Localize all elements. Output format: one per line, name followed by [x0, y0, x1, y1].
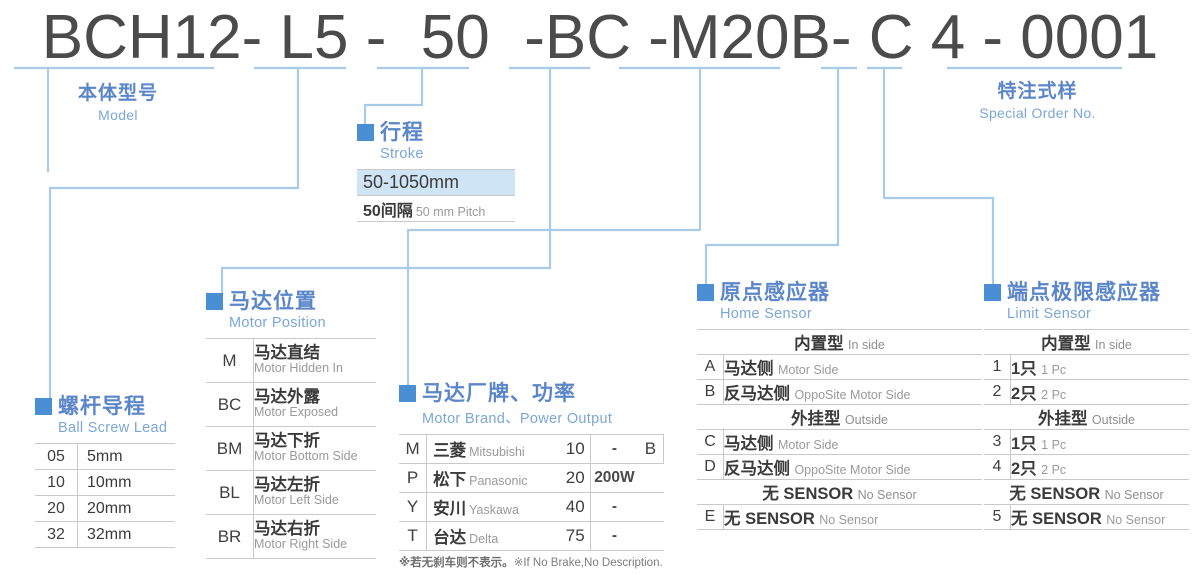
motorpos-desc-en: Motor Left Side: [254, 494, 376, 508]
limit-sensor-desc: 无 SENSOR No Sensor: [1011, 505, 1190, 530]
limit-sensor-band: 内置型 In side: [984, 330, 1189, 355]
home-sensor-desc-cn: 反马达侧: [724, 385, 790, 403]
home-sensor-desc-en: No Sensor: [819, 513, 878, 527]
bullet-square-icon: [399, 385, 416, 402]
power-value: -: [590, 435, 638, 464]
table-row: 5 无 SENSOR No Sensor: [984, 505, 1189, 530]
brand-title-cn: 马达厂牌、功率: [422, 383, 576, 404]
brand-title-en: Motor Brand、Power Output: [422, 407, 664, 428]
brand-name-en: Delta: [469, 532, 498, 546]
table-row: BC 马达外露 Motor Exposed: [206, 383, 376, 427]
motorpos-desc: 马达外露 Motor Exposed: [254, 383, 377, 427]
home-sensor-desc-en: OppoSite Motor Side: [794, 463, 910, 477]
stroke-title-en: Stroke: [380, 146, 515, 162]
section-ball-screw-lead: 螺杆导程 Ball Screw Lead 05 5mm 10 10mm 20 2…: [35, 396, 175, 548]
motorpos-desc-cn: 马达下折: [254, 433, 376, 450]
table-row: 内置型 In side: [697, 330, 982, 355]
power-value: -: [590, 522, 638, 551]
stroke-range-cell: 50-1050mm: [357, 170, 515, 196]
table-row: 3 1只 1 Pc: [984, 430, 1189, 455]
table-row: 05 5mm: [35, 444, 175, 470]
brand-name-en: Yaskawa: [469, 503, 519, 517]
motorpos-code: BC: [206, 383, 254, 427]
home-sensor-desc-cn: 马达侧: [724, 435, 774, 453]
band-en: No Sensor: [858, 488, 917, 502]
limit-sensor-desc-en: 1 Pc: [1041, 363, 1066, 377]
label-special-order-en: Special Order No.: [930, 105, 1145, 121]
home-sensor-desc-cn: 马达侧: [724, 360, 774, 378]
home-sensor-band: 内置型 In side: [697, 330, 982, 355]
brand-name: 安川Yaskawa: [427, 493, 561, 522]
brake-code: [638, 493, 664, 522]
motorpos-desc-cn: 马达直结: [254, 345, 376, 362]
brand-code: P: [399, 464, 427, 493]
limit-sensor-code: 1: [984, 355, 1011, 380]
brand-code: Y: [399, 493, 427, 522]
home-sensor-band: 外挂型 Outside: [697, 405, 982, 430]
lead-code: 20: [35, 496, 78, 522]
band-cn: 外挂型: [791, 410, 841, 428]
limit-sensor-code: 5: [984, 505, 1011, 530]
band-en: No Sensor: [1105, 488, 1164, 502]
brand-name-cn: 三菱: [433, 442, 466, 460]
stroke-heading: 行程: [357, 122, 515, 143]
ball-screw-lead-table: 05 5mm 10 10mm 20 20mm 32 32mm: [35, 443, 175, 548]
lead-code: 05: [35, 444, 78, 470]
brake-code: B: [638, 435, 664, 464]
section-motor-position: 马达位置 Motor Position M 马达直结 Motor Hidden …: [206, 291, 376, 559]
home-sensor-title-en: Home Sensor: [720, 306, 982, 322]
product-code: BCH12- L5 - 50 -BC -M20B- C 4 - 0001: [0, 2, 1200, 73]
limit-sensor-title-cn: 端点极限感应器: [1007, 282, 1161, 303]
table-row: BL 马达左折 Motor Left Side: [206, 471, 376, 515]
home-sensor-desc-en: Motor Side: [778, 363, 838, 377]
lead-heading: 螺杆导程: [35, 396, 175, 417]
limit-sensor-table: 内置型 In side 1 1只 1 Pc 2 2只 2 Pc: [984, 329, 1189, 530]
power-code: 75: [560, 522, 590, 551]
brand-name-en: Panasonic: [469, 474, 527, 488]
band-cn: 内置型: [794, 335, 844, 353]
label-model-cn: 本体型号: [38, 78, 198, 105]
home-sensor-code: B: [697, 380, 724, 405]
motorpos-title-en: Motor Position: [229, 315, 376, 331]
stroke-range: 50-1050mm: [363, 172, 459, 192]
lead-label: 5mm: [78, 444, 176, 470]
table-row: 4 2只 2 Pc: [984, 455, 1189, 480]
stroke-pitch-cell: 50间隔50 mm Pitch: [357, 196, 515, 222]
stroke-pitch-en: 50 mm Pitch: [416, 205, 485, 219]
limit-sensor-heading: 端点极限感应器: [984, 282, 1189, 303]
table-row: 50-1050mm: [357, 170, 515, 196]
band-cn: 无 SENSOR: [762, 485, 853, 503]
table-row: B 反马达侧 OppoSite Motor Side: [697, 380, 982, 405]
limit-sensor-desc-cn: 2只: [1011, 385, 1037, 403]
stroke-title-cn: 行程: [380, 122, 424, 143]
home-sensor-table: 内置型 In side A 马达侧 Motor Side B 反马达侧 Oppo…: [697, 329, 982, 530]
limit-sensor-desc-en: 1 Pc: [1041, 438, 1066, 452]
limit-sensor-desc: 1只 1 Pc: [1011, 430, 1190, 455]
limit-sensor-band: 外挂型 Outside: [984, 405, 1189, 430]
limit-sensor-code: 3: [984, 430, 1011, 455]
motorpos-desc: 马达直结 Motor Hidden In: [254, 339, 377, 383]
brand-footnote-en: ※If No Brake,No Description.: [514, 557, 663, 569]
stroke-table: 50-1050mm 50间隔50 mm Pitch: [357, 169, 515, 222]
limit-sensor-desc-cn: 1只: [1011, 360, 1037, 378]
home-sensor-desc-cn: 反马达侧: [724, 460, 790, 478]
table-row: M 马达直结 Motor Hidden In: [206, 339, 376, 383]
motorpos-code: BM: [206, 427, 254, 471]
home-sensor-desc-en: Motor Side: [778, 438, 838, 452]
motor-position-table: M 马达直结 Motor Hidden In BC 马达外露 Motor Exp…: [206, 338, 376, 559]
home-sensor-desc: 无 SENSOR No Sensor: [724, 505, 983, 530]
bullet-square-icon: [35, 398, 52, 415]
motorpos-desc: 马达右折 Motor Right Side: [254, 515, 377, 559]
table-row: D 反马达侧 OppoSite Motor Side: [697, 455, 982, 480]
brand-footnote: ※若无刹车则不表示。※If No Brake,No Description.: [399, 554, 664, 570]
motorpos-desc-en: Motor Exposed: [254, 406, 376, 420]
motorpos-desc-en: Motor Bottom Side: [254, 450, 376, 464]
table-row: BM 马达下折 Motor Bottom Side: [206, 427, 376, 471]
motorpos-desc-en: Motor Right Side: [254, 538, 376, 552]
home-sensor-desc: 反马达侧 OppoSite Motor Side: [724, 380, 983, 405]
motorpos-code: BR: [206, 515, 254, 559]
bullet-square-icon: [697, 284, 714, 301]
table-row: A 马达侧 Motor Side: [697, 355, 982, 380]
label-special-order-cn: 特注式样: [930, 76, 1145, 103]
home-sensor-code: D: [697, 455, 724, 480]
lead-label: 32mm: [78, 522, 176, 548]
band-cn: 内置型: [1041, 335, 1091, 353]
bullet-square-icon: [206, 293, 223, 310]
section-home-sensor: 原点感应器 Home Sensor 内置型 In side A 马达侧 Moto…: [697, 282, 982, 530]
band-cn: 外挂型: [1038, 410, 1088, 428]
motorpos-title-cn: 马达位置: [229, 291, 317, 312]
band-en: In side: [848, 338, 885, 352]
section-limit-sensor: 端点极限感应器 Limit Sensor 内置型 In side 1 1只 1 …: [984, 282, 1189, 530]
table-row: T 台达Delta 75 -: [399, 522, 664, 551]
limit-sensor-desc-cn: 2只: [1011, 460, 1037, 478]
home-sensor-desc-cn: 无 SENSOR: [724, 510, 815, 528]
table-row: Y 安川Yaskawa 40 -: [399, 493, 664, 522]
brand-name: 松下Panasonic: [427, 464, 561, 493]
label-model: 本体型号 Model: [38, 78, 198, 123]
home-sensor-heading: 原点感应器: [697, 282, 982, 303]
limit-sensor-desc: 2只 2 Pc: [1011, 380, 1190, 405]
power-value: -: [590, 493, 638, 522]
limit-sensor-desc-cn: 无 SENSOR: [1011, 510, 1102, 528]
motorpos-code: M: [206, 339, 254, 383]
table-row: 50间隔50 mm Pitch: [357, 196, 515, 222]
brand-heading: 马达厂牌、功率: [399, 383, 664, 404]
table-row: 10 10mm: [35, 470, 175, 496]
home-sensor-desc: 反马达侧 OppoSite Motor Side: [724, 455, 983, 480]
motorpos-desc: 马达左折 Motor Left Side: [254, 471, 377, 515]
table-row: P 松下Panasonic 20 200W: [399, 464, 664, 493]
band-en: In side: [1095, 338, 1132, 352]
table-row: 2 2只 2 Pc: [984, 380, 1189, 405]
section-motor-brand: 马达厂牌、功率 Motor Brand、Power Output M 三菱Mit…: [399, 383, 664, 570]
table-row: 外挂型 Outside: [697, 405, 982, 430]
limit-sensor-code: 4: [984, 455, 1011, 480]
brand-name-en: Mitsubishi: [469, 445, 525, 459]
limit-sensor-code: 2: [984, 380, 1011, 405]
lead-label: 10mm: [78, 470, 176, 496]
home-sensor-code: A: [697, 355, 724, 380]
table-row: 20 20mm: [35, 496, 175, 522]
power-code: 40: [560, 493, 590, 522]
table-row: C 马达侧 Motor Side: [697, 430, 982, 455]
motorpos-desc-cn: 马达右折: [254, 521, 376, 538]
bullet-square-icon: [984, 284, 1001, 301]
brand-code: M: [399, 435, 427, 464]
brand-name-cn: 安川: [433, 500, 466, 518]
lead-code: 10: [35, 470, 78, 496]
lead-title-cn: 螺杆导程: [58, 396, 146, 417]
section-stroke: 行程 Stroke 50-1050mm 50间隔50 mm Pitch: [357, 122, 515, 222]
limit-sensor-desc: 2只 2 Pc: [1011, 455, 1190, 480]
band-en: Outside: [1092, 413, 1135, 427]
brand-code: T: [399, 522, 427, 551]
lead-code: 32: [35, 522, 78, 548]
table-row: M 三菱Mitsubishi 10 - B: [399, 435, 664, 464]
home-sensor-desc-en: OppoSite Motor Side: [794, 388, 910, 402]
limit-sensor-desc-cn: 1只: [1011, 435, 1037, 453]
table-row: BR 马达右折 Motor Right Side: [206, 515, 376, 559]
band-cn: 无 SENSOR: [1009, 485, 1100, 503]
motorpos-desc: 马达下折 Motor Bottom Side: [254, 427, 377, 471]
motorpos-heading: 马达位置: [206, 291, 376, 312]
table-row: 1 1只 1 Pc: [984, 355, 1189, 380]
limit-sensor-desc-en: 2 Pc: [1041, 463, 1066, 477]
motorpos-code: BL: [206, 471, 254, 515]
stroke-pitch-cn: 50间隔: [363, 203, 413, 220]
home-sensor-code: E: [697, 505, 724, 530]
label-special-order: 特注式样 Special Order No.: [930, 76, 1145, 121]
model-code-diagram: BCH12- L5 - 50 -BC -M20B- C 4 - 0001: [0, 0, 1200, 575]
limit-sensor-desc-en: No Sensor: [1106, 513, 1165, 527]
table-row: 内置型 In side: [984, 330, 1189, 355]
brand-name: 台达Delta: [427, 522, 561, 551]
label-model-en: Model: [38, 107, 198, 123]
brand-name: 三菱Mitsubishi: [427, 435, 561, 464]
motorpos-desc-cn: 马达左折: [254, 477, 376, 494]
home-sensor-code: C: [697, 430, 724, 455]
table-row: 无 SENSOR No Sensor: [697, 480, 982, 505]
brand-name-cn: 松下: [433, 471, 466, 489]
lead-label: 20mm: [78, 496, 176, 522]
limit-sensor-title-en: Limit Sensor: [1007, 306, 1189, 322]
motor-brand-table: M 三菱Mitsubishi 10 - B P 松下Panasonic 20 2…: [399, 434, 664, 551]
brand-footnote-cn: ※若无刹车则不表示。: [399, 557, 514, 569]
table-row: E 无 SENSOR No Sensor: [697, 505, 982, 530]
limit-sensor-desc-en: 2 Pc: [1041, 388, 1066, 402]
lead-title-en: Ball Screw Lead: [58, 420, 175, 436]
home-sensor-title-cn: 原点感应器: [720, 282, 830, 303]
brake-code: [638, 464, 664, 493]
table-row: 外挂型 Outside: [984, 405, 1189, 430]
home-sensor-desc: 马达侧 Motor Side: [724, 430, 983, 455]
brand-name-cn: 台达: [433, 529, 466, 547]
home-sensor-desc: 马达侧 Motor Side: [724, 355, 983, 380]
limit-sensor-band: 无 SENSOR No Sensor: [984, 480, 1189, 505]
table-row: 无 SENSOR No Sensor: [984, 480, 1189, 505]
motorpos-desc-en: Motor Hidden In: [254, 362, 376, 376]
power-value: 200W: [590, 464, 638, 493]
table-row: 32 32mm: [35, 522, 175, 548]
motorpos-desc-cn: 马达外露: [254, 389, 376, 406]
power-code: 20: [560, 464, 590, 493]
power-code: 10: [560, 435, 590, 464]
band-en: Outside: [845, 413, 888, 427]
home-sensor-band: 无 SENSOR No Sensor: [697, 480, 982, 505]
bullet-square-icon: [357, 124, 374, 141]
limit-sensor-desc: 1只 1 Pc: [1011, 355, 1190, 380]
brake-code: [638, 522, 664, 551]
